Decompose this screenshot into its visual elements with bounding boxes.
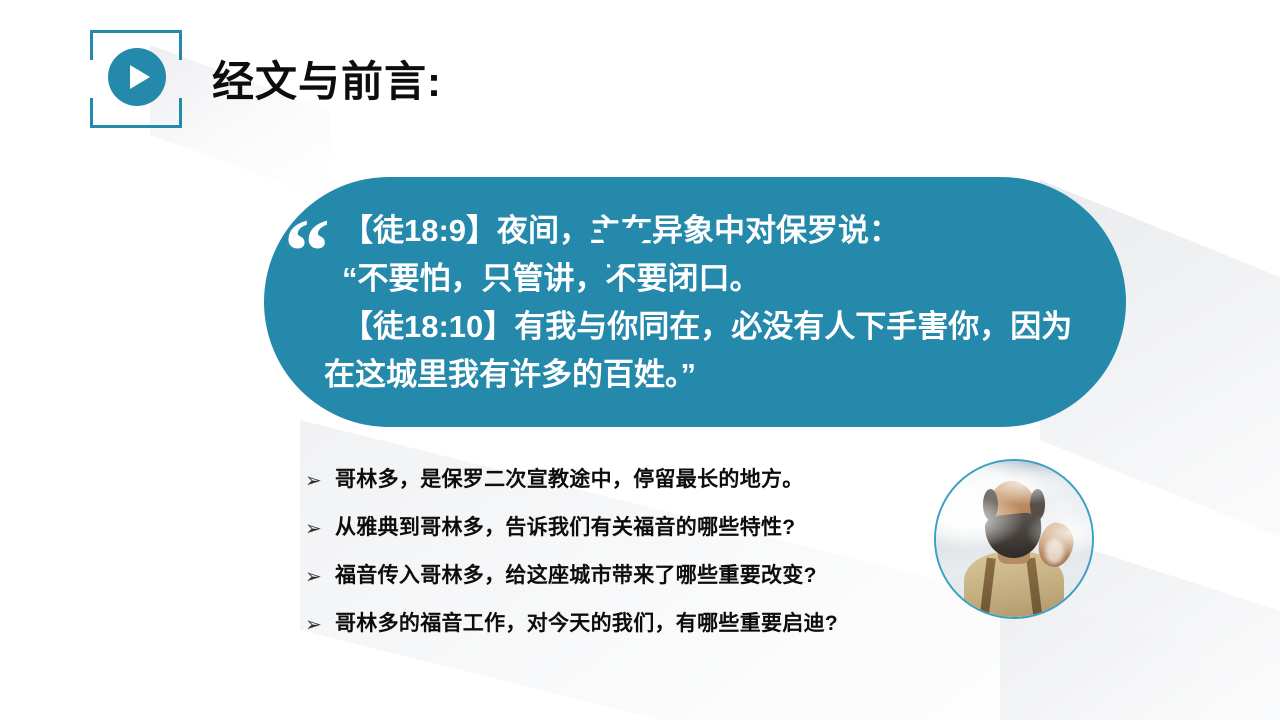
list-item: ➢ 从雅典到哥林多，告诉我们有关福音的哪些特性? [305,514,965,542]
play-triangle-icon [130,65,150,89]
arrow-bullet-icon: ➢ [305,562,335,590]
list-item-label: 从雅典到哥林多，告诉我们有关福音的哪些特性? [335,514,965,542]
frame-edge-bottom [90,125,182,128]
scripture-line-1: 【徒18:9】夜间，主在异象中对保罗说： [324,207,1094,255]
list-item: ➢ 哥林多的福音工作，对今天的我们，有哪些重要启迪? [305,610,965,638]
arrow-bullet-icon: ➢ [305,610,335,638]
scripture-line-3: 【徒18:10】有我与你同在，必没有人下手害你，因为在这城里我有许多的百姓。” [324,303,1094,399]
portrait-image [934,459,1094,619]
list-item: ➢ 哥林多，是保罗二次宣教途中，停留最长的地方。 [305,466,965,494]
list-item-label: 哥林多，是保罗二次宣教途中，停留最长的地方。 [335,466,965,494]
list-item-label: 福音传入哥林多，给这座城市带来了哪些重要改变? [335,562,965,590]
arrow-bullet-icon: ➢ [305,466,335,494]
frame-edge-top [90,30,182,33]
scripture-text: 【徒18:9】夜间，主在异象中对保罗说： “不要怕，只管讲，不要闭口。 【徒18… [324,207,1094,399]
frame-edge-left-upper [90,30,93,60]
scripture-line-2: “不要怕，只管讲，不要闭口。 [324,255,1094,303]
frame-edge-right-lower [179,98,182,128]
list-item-label: 哥林多的福音工作，对今天的我们，有哪些重要启迪? [335,610,965,638]
portrait-hand-highlight [1045,539,1064,564]
slide-canvas: 经文与前言: “ 【徒18:9】夜间，主在异象中对保罗说： “不要怕，只管讲，不… [0,0,1280,720]
frame-edge-right-upper [179,30,182,60]
scripture-speech-bubble: “ 【徒18:9】夜间，主在异象中对保罗说： “不要怕，只管讲，不要闭口。 【徒… [264,177,1126,427]
question-bullet-list: ➢ 哥林多，是保罗二次宣教途中，停留最长的地方。 ➢ 从雅典到哥林多，告诉我们有… [305,466,965,638]
bubble-tail [600,228,656,273]
slide-header: 经文与前言: [0,0,1280,150]
frame-edge-left-lower [90,98,93,128]
list-item: ➢ 福音传入哥林多，给这座城市带来了哪些重要改变? [305,562,965,590]
play-button-icon[interactable] [108,48,166,106]
page-title: 经文与前言: [212,48,442,109]
arrow-bullet-icon: ➢ [305,514,335,542]
